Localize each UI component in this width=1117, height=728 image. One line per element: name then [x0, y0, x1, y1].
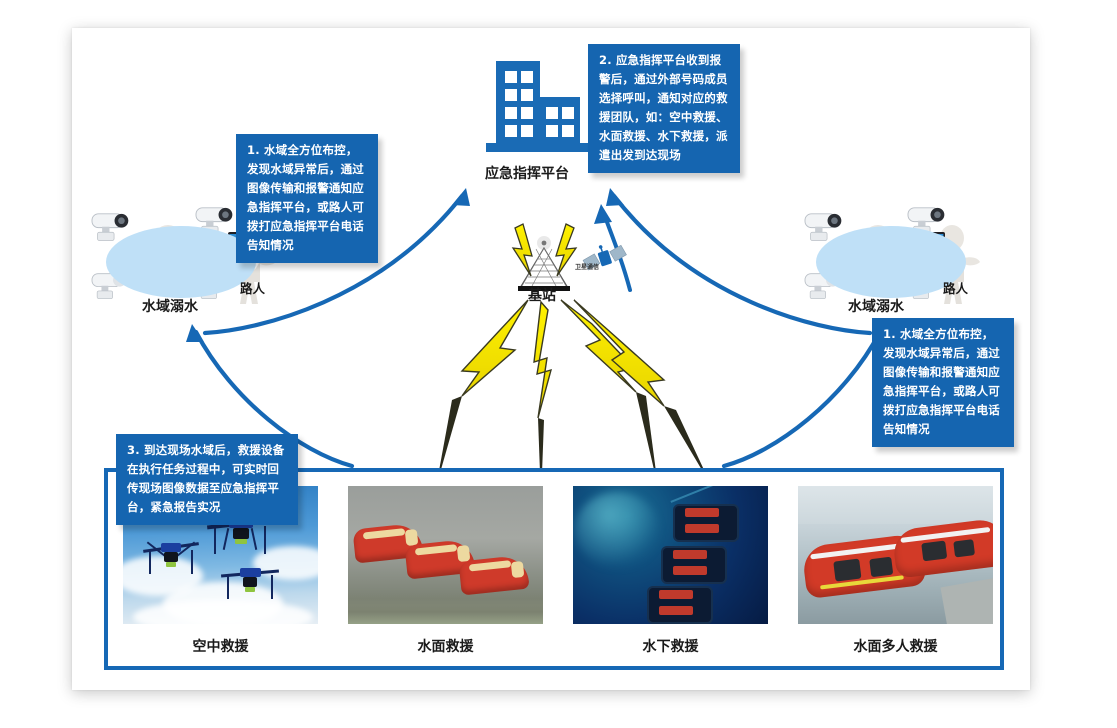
callout-step3-bottom: 3. 到达现场水域后，救援设备在执行任务过程中，可实时回传现场图像数据至应急指挥… [116, 434, 298, 525]
callout-step1-right: 1. 水域全方位布控，发现水域异常后，通过图像传输和报警通知应急指挥平台，或路人… [872, 318, 1014, 447]
callout-step1-left: 1. 水域全方位布控，发现水域异常后，通过图像传输和报警通知应急指挥平台，或路人… [236, 134, 378, 263]
diagram-canvas: 应急指挥平台 基站 卫星通信 水域溺水 路人 水域溺水 路人 1. 水域全方位布… [0, 0, 1117, 728]
platform-label: 应急指挥平台 [485, 163, 569, 183]
water-area-left [106, 226, 256, 298]
rescue-caption: 空中救援 [193, 636, 249, 656]
rescue-caption: 水下救援 [643, 636, 699, 656]
surface-rescue-photo [348, 486, 543, 624]
rescue-caption: 水面救援 [418, 636, 474, 656]
underwater-rescue-photo [573, 486, 768, 624]
base-station-label: 基站 [528, 285, 556, 305]
rescue-item: 水下救援 [570, 486, 772, 656]
multi-person-boat-photo [798, 486, 993, 624]
drowning-label-left: 水域溺水 [142, 296, 198, 316]
office-building-icon [482, 55, 592, 161]
satellite-label: 卫星通信 [575, 262, 599, 271]
rescue-caption: 水面多人救援 [854, 636, 938, 656]
rescue-item: 水面救援 [345, 486, 547, 656]
passerby-label-left: 路人 [240, 278, 265, 297]
rescue-item: 水面多人救援 [795, 486, 997, 656]
drowning-label-right: 水域溺水 [848, 296, 904, 316]
callout-step2-top: 2. 应急指挥平台收到报警后，通过外部号码成员选择呼叫，通知对应的救援团队，如：… [588, 44, 740, 173]
passerby-label-right: 路人 [943, 278, 968, 297]
